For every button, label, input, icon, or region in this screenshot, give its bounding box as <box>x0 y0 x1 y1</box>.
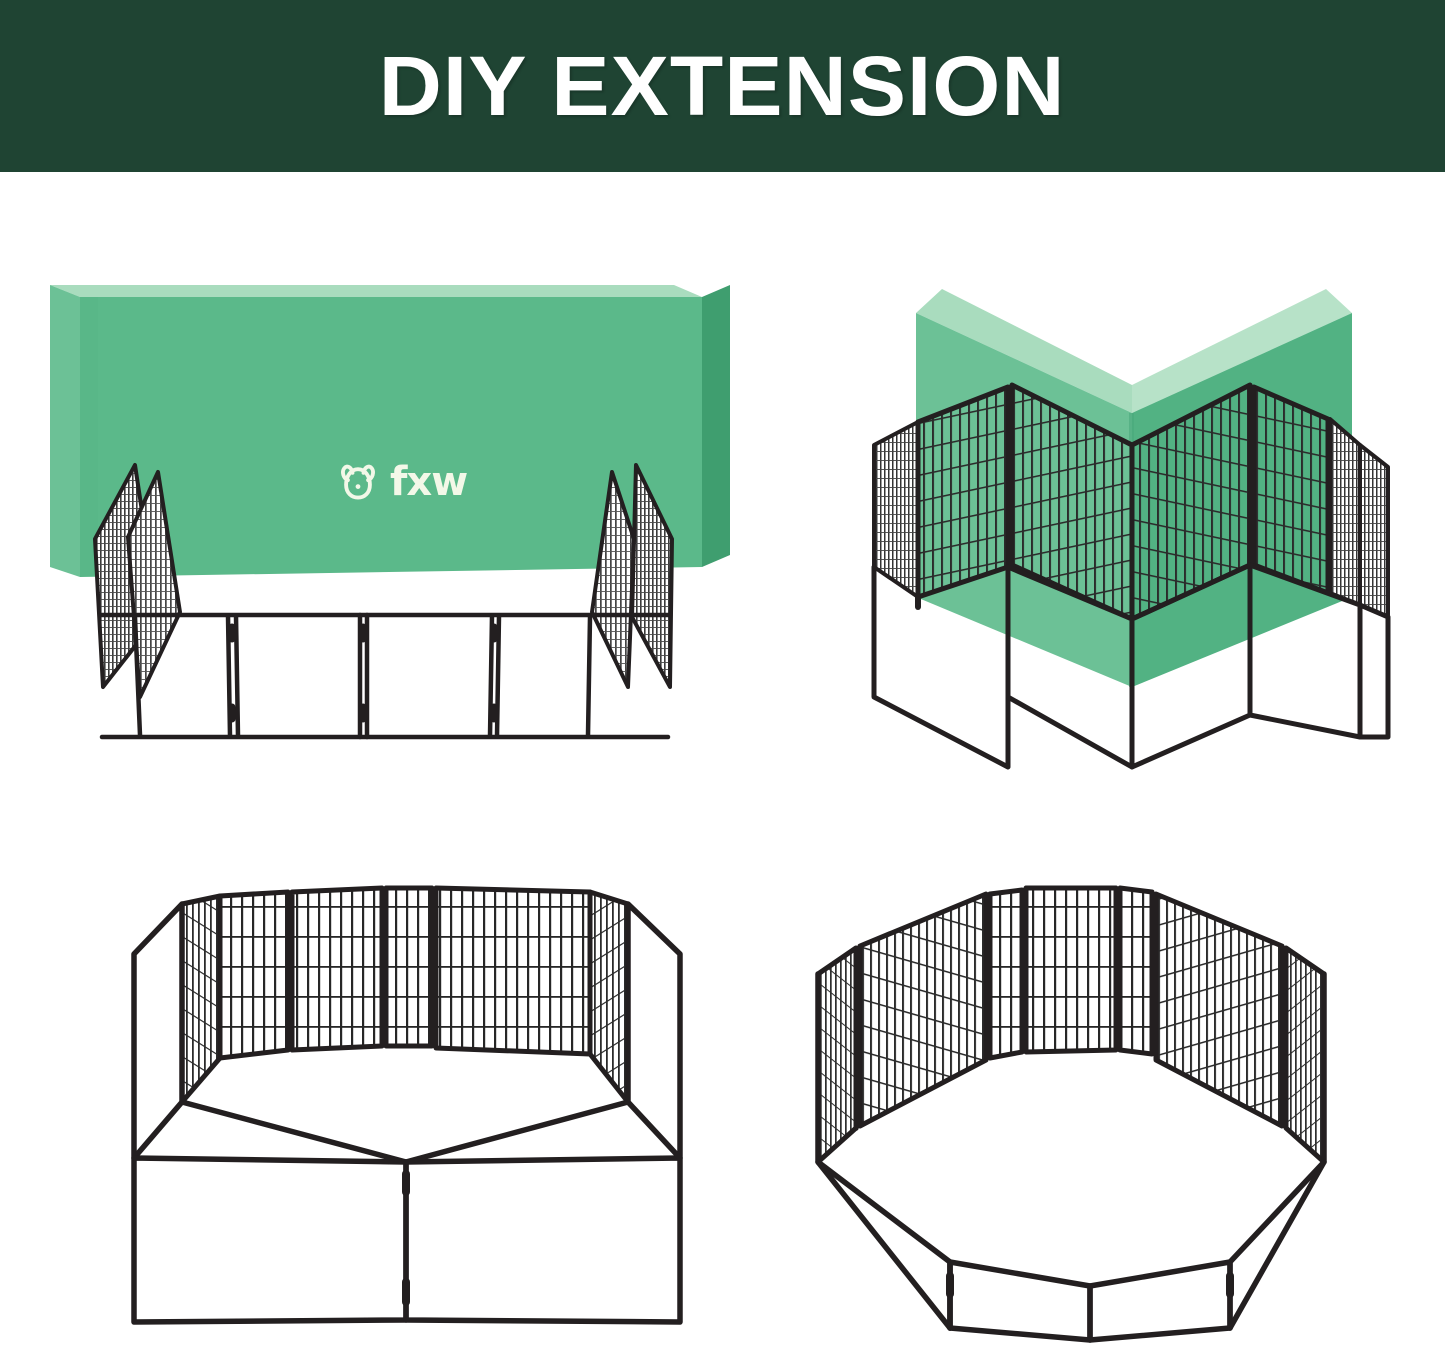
infographic-sheet: DIY EXTENSION <box>0 0 1445 1357</box>
header-banner: DIY EXTENSION <box>0 0 1445 172</box>
illustration-square-enclosure <box>120 862 700 1342</box>
fence-panel-right-back <box>1254 387 1328 593</box>
fence-panels-octagon-rear <box>818 888 1324 1162</box>
illustration-octagon-enclosure <box>790 862 1390 1342</box>
illustration-straight-wall-extension <box>40 267 730 787</box>
fence-panel-left-back <box>918 387 1008 597</box>
fence-panel-right-side <box>590 892 628 1102</box>
page-title: DIY EXTENSION <box>379 44 1066 128</box>
illustration-corner-wall-extension <box>860 267 1400 787</box>
fence-panel-left-side <box>182 896 220 1102</box>
fence-panel-far-right <box>1330 419 1388 617</box>
fence-panels-back-row <box>220 888 590 1058</box>
fence-panel-far-left <box>874 422 918 597</box>
illustration-gallery: fxw <box>0 172 1445 1357</box>
fence-panel-front-run <box>100 615 670 737</box>
